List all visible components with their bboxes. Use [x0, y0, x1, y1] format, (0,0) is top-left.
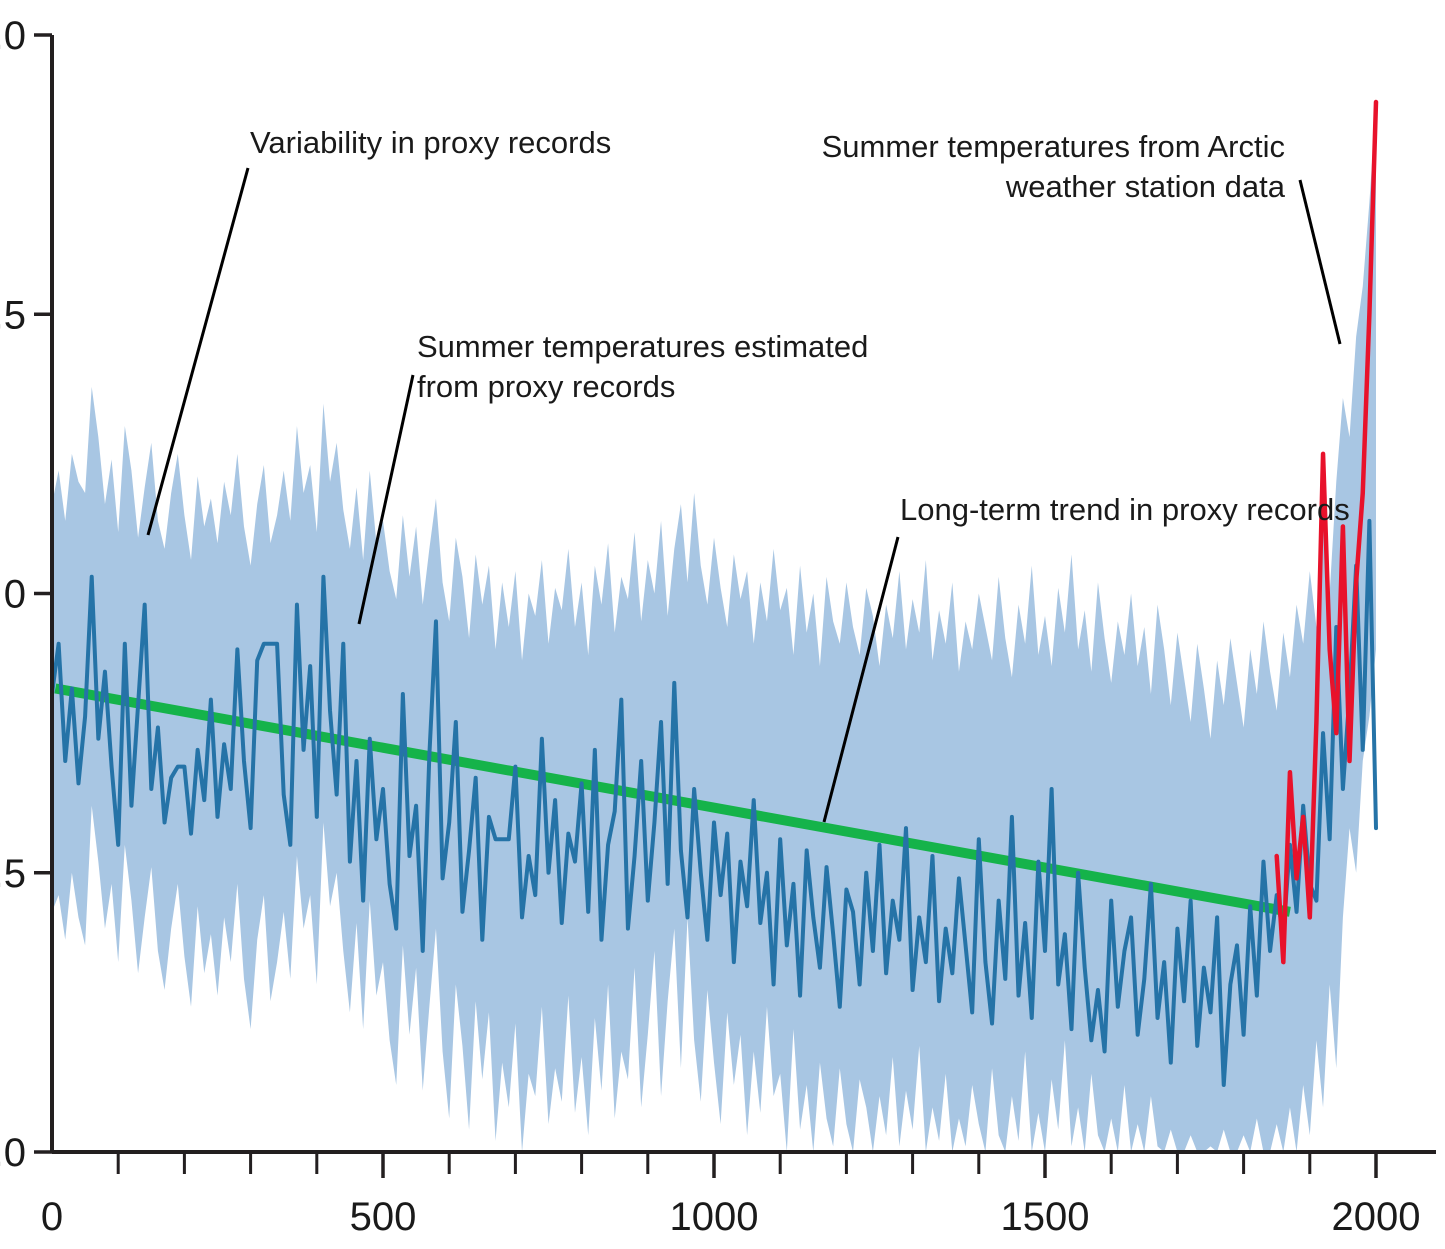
- paleoclimate-line-chart: -1.0-0.500.51.0 0500100015002000 Variabi…: [0, 0, 1445, 1249]
- y-tick-label: -1.0: [0, 1131, 26, 1175]
- annotation-line: from proxy records: [417, 369, 675, 404]
- annotation-line: Variability in proxy records: [250, 125, 611, 160]
- annotation-line: Summer temperatures from Arctic: [822, 129, 1285, 164]
- y-tick-label: 0.5: [0, 293, 26, 337]
- y-tick-label: 1.0: [0, 14, 26, 58]
- annotation-line: Long-term trend in proxy records: [900, 492, 1350, 527]
- x-tick-label: 1500: [1001, 1195, 1090, 1239]
- annotation-label-variability: Variability in proxy records: [250, 125, 611, 160]
- x-tick-label: 0: [41, 1195, 63, 1239]
- annotation-line: Summer temperatures estimated: [417, 329, 868, 364]
- x-tick-label: 1000: [670, 1195, 759, 1239]
- y-tick-label: -0.5: [0, 852, 26, 896]
- y-tick-label: 0: [4, 573, 26, 617]
- x-tick-label: 500: [350, 1195, 417, 1239]
- x-tick-label: 2000: [1332, 1195, 1421, 1239]
- chart-container: -1.0-0.500.51.0 0500100015002000 Variabi…: [0, 0, 1445, 1249]
- annotation-line: weather station data: [1005, 169, 1286, 204]
- annotation-label-long-term-trend: Long-term trend in proxy records: [900, 492, 1350, 527]
